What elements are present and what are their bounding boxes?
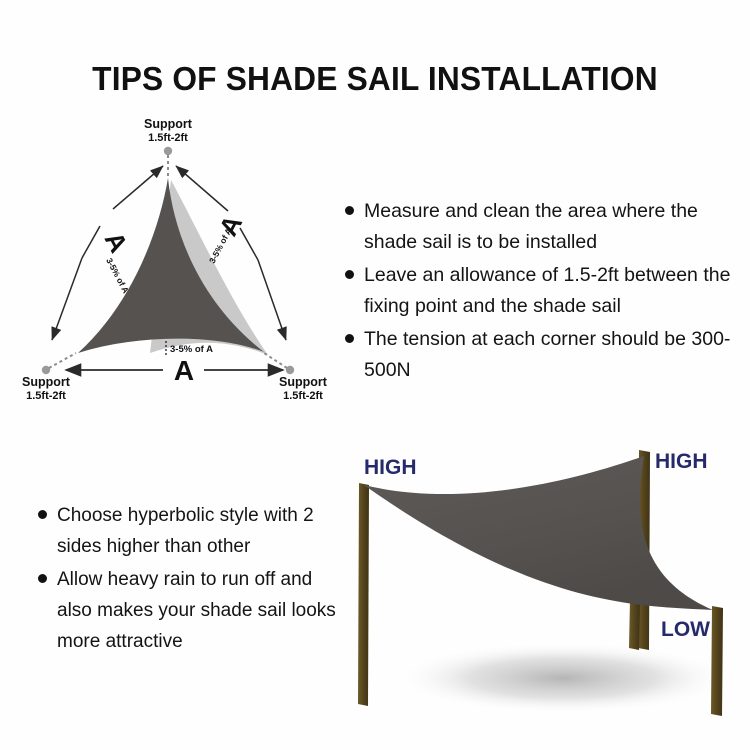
support-post-left [358, 483, 369, 706]
installation-tips-list: Measure and clean the area where the sha… [345, 196, 740, 388]
support-sublabel-top: 1.5ft-2ft [148, 132, 188, 144]
dimension-line-left-lower [82, 226, 100, 258]
anchor-line-bottom-left [49, 353, 76, 368]
label-high-left: HIGH [364, 456, 417, 479]
hyperbolic-tips-list: Choose hyperbolic style with 2 sides hig… [38, 500, 343, 659]
support-label-bottom-left: Support [22, 375, 71, 389]
dimension-line-left-upper [113, 185, 141, 209]
list-item: Leave an allowance of 1.5-2ft between th… [345, 260, 740, 322]
dimension-label-left: A [99, 227, 134, 258]
list-item: Choose hyperbolic style with 2 sides hig… [38, 500, 343, 562]
list-item: Allow heavy rain to run off and also mak… [38, 564, 343, 657]
ground-shadow [395, 642, 731, 714]
list-item: Measure and clean the area where the sha… [345, 196, 740, 258]
dimension-line-right-upper [198, 185, 228, 211]
bullet-icon [38, 510, 47, 519]
list-item-label: Measure and clean the area where the sha… [364, 196, 740, 258]
bullet-icon [345, 206, 354, 215]
bullet-icon [345, 270, 354, 279]
sag-note-left: 3-5% of A [104, 256, 131, 295]
label-low-right: LOW [661, 618, 710, 641]
support-label-bottom-right: Support [279, 375, 328, 389]
list-item-label: The tension at each corner should be 300… [364, 324, 740, 386]
list-item-label: Allow heavy rain to run off and also mak… [57, 564, 343, 657]
dimension-arrow-right-lower [258, 260, 286, 340]
page-title: TIPS OF SHADE SAIL INSTALLATION [15, 60, 735, 98]
support-sublabel-bottom-right: 1.5ft-2ft [283, 390, 323, 402]
support-post-middle [629, 600, 640, 650]
dimension-arrow-right-upper [176, 166, 198, 185]
hyperbolic-sail-diagram: HIGH HIGH LOW [338, 428, 750, 750]
support-post-right-low [711, 606, 723, 716]
dimension-arrow-left-lower [52, 258, 82, 340]
dimension-arrow-left-upper [141, 166, 163, 185]
sail-canvas [364, 456, 713, 610]
label-high-right: HIGH [655, 450, 708, 473]
list-item-label: Choose hyperbolic style with 2 sides hig… [57, 500, 343, 562]
anchor-dot-top [164, 147, 172, 155]
bullet-icon [345, 334, 354, 343]
bullet-icon [38, 574, 47, 583]
sag-note-bottom: 3-5% of A [170, 344, 213, 355]
infographic-page: TIPS OF SHADE SAIL INSTALLATION Support … [0, 0, 750, 750]
list-item: The tension at each corner should be 300… [345, 324, 740, 386]
anchor-line-bottom-right [264, 353, 287, 368]
support-sublabel-bottom-left: 1.5ft-2ft [26, 390, 66, 402]
sag-note-right: 3-5% of A [207, 226, 234, 265]
list-item-label: Leave an allowance of 1.5-2ft between th… [364, 260, 740, 322]
support-label-top: Support [144, 117, 193, 131]
dimension-label-bottom: A [174, 355, 194, 386]
triangle-diagram: Support 1.5ft-2ft Support 1.5ft-2ft Supp… [18, 112, 348, 412]
